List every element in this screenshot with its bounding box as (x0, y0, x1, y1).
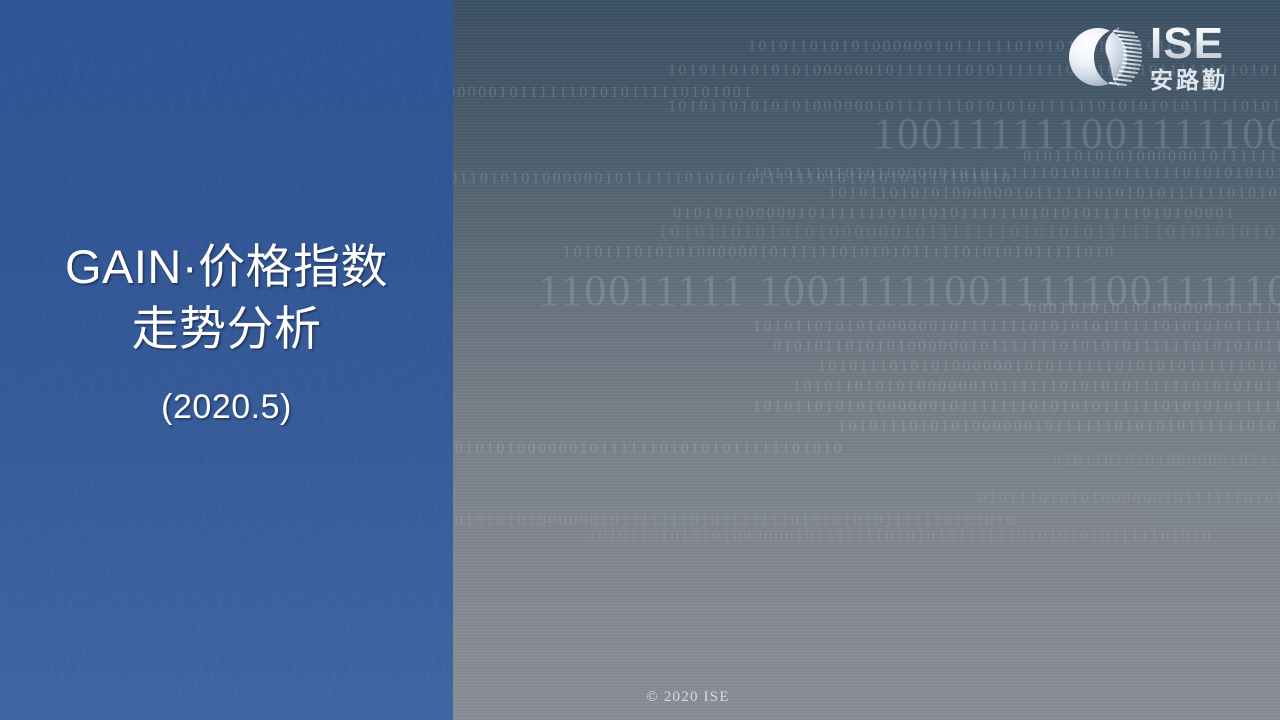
binary-row: 1010110101010000001011111110101010111111… (753, 318, 1280, 336)
binary-row: 1010110101010000001011111101010101111110… (793, 378, 1280, 396)
binary-row-large: 10011111100111110011111001 (873, 108, 1280, 159)
title-panel: GAIN·价格指数 走势分析 (2020.5) (0, 0, 453, 720)
logo-chinese-name: 安路勤 (1150, 70, 1228, 93)
binary-row: 1010110101010000001011111101010101111110… (453, 440, 844, 458)
binary-row: 1010111010101000000101111110101010111110… (563, 244, 1116, 262)
page-title: GAIN·价格指数 走势分析 (0, 236, 453, 360)
binary-row: 1010110101010100000010111111101010101111… (668, 98, 1280, 116)
logo-wordmark: ISE (1150, 22, 1228, 66)
binary-row: 0001010101010000001011111110101010111111… (1028, 300, 1280, 318)
binary-row: 1010111010101000000101011111101010101111… (818, 358, 1280, 376)
binary-row-large: 110011111 100111110011111001111100111110… (538, 265, 1280, 316)
binary-row: 1010110101010100000010111111101010101111… (588, 528, 1213, 546)
ise-logo: ISE 安路勤 (1062, 16, 1252, 98)
binary-row: 0101110101010000001011111101010111110101… (978, 490, 1280, 508)
binary-row: 1010110101010100000010111111101011111110… (453, 512, 1017, 530)
binary-row: 1010110101010000001011111101010101111110… (453, 170, 1012, 188)
binary-row: 0101101010100000010111111101010101111110… (1053, 452, 1280, 470)
page-title-line-1: GAIN·价格指数 (65, 240, 388, 293)
binary-row: 1010111010101000000101111110101010111111… (838, 418, 1280, 436)
binary-row: 0101011010101000000101111111010101011111… (773, 338, 1280, 356)
presentation-slide: 1010110101010000001011111101010101111110… (0, 0, 1280, 720)
binary-row: 0101101010100000010111111101010101111110… (1023, 148, 1280, 166)
footer-copyright: © 2020 ISE (453, 689, 923, 706)
binary-row: 1010110101010100000010111111101010101111… (658, 222, 1280, 244)
logo-text-group: ISE 安路勤 (1150, 22, 1228, 93)
page-title-line-2: 走势分析 (132, 302, 322, 355)
title-block: GAIN·价格指数 走势分析 (2020.5) (0, 236, 453, 427)
binary-code-texture: 1010110101010000001011111101010101111110… (453, 0, 1280, 720)
binary-row: 1010110101010000001011111110101010111111… (753, 398, 1280, 416)
binary-row: 1010110101010000001011111101010101111110… (828, 185, 1280, 203)
page-subtitle: (2020.5) (0, 360, 453, 427)
binary-row: 1010111010101000000101011111101010101111… (753, 165, 1280, 183)
binary-row: 0101010000001011111110101010111111010101… (673, 205, 1236, 223)
crescent-sphere-icon (1062, 18, 1144, 96)
binary-row: 0101110101010000001011111101010111110101… (453, 84, 754, 102)
